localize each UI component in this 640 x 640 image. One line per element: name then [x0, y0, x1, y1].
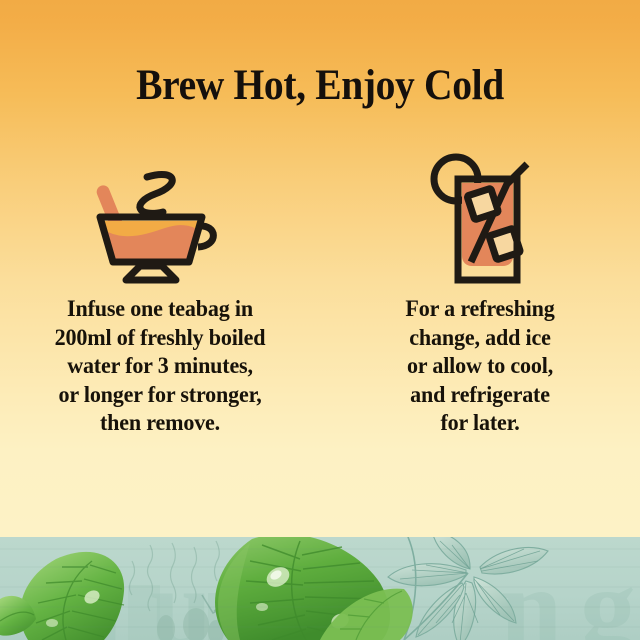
text-line: or longer for stronger,	[10, 381, 311, 410]
instruction-columns: Infuse one teabag in 200ml of freshly bo…	[0, 150, 640, 460]
instruction-text-enjoy-cold: For a refreshing change, add ice or allo…	[363, 295, 598, 438]
text-line: change, add ice	[363, 324, 598, 353]
teacup-icon	[85, 150, 235, 285]
text-line: water for 3 minutes,	[10, 352, 311, 381]
recipe-poster: Brew Hot, Enjoy Cold	[0, 0, 640, 640]
column-brew-hot: Infuse one teabag in 200ml of freshly bo…	[0, 150, 320, 460]
steam-squiggle-icon	[140, 174, 172, 213]
text-line: Infuse one teabag in	[10, 295, 311, 324]
column-enjoy-cold: For a refreshing change, add ice or allo…	[320, 150, 640, 460]
instruction-text-brew-hot: Infuse one teabag in 200ml of freshly bo…	[10, 295, 311, 438]
text-line: for later.	[363, 409, 598, 438]
teacup-icon-wrap	[85, 150, 235, 295]
text-line: or allow to cool,	[363, 352, 598, 381]
ice-cube-icon	[467, 188, 499, 220]
page-title: Brew Hot, Enjoy Cold	[26, 62, 615, 110]
text-line: 200ml of freshly boiled	[10, 324, 311, 353]
text-line: then remove.	[10, 409, 311, 438]
text-line: and refrigerate	[363, 381, 598, 410]
mint-leaf-photo-band: n u n g	[0, 537, 640, 640]
cup-base-icon	[126, 266, 176, 280]
iced-tea-glass-icon	[415, 150, 545, 285]
svg-text:g: g	[580, 546, 636, 640]
text-line: For a refreshing	[363, 295, 598, 324]
iced-tea-glass-icon-wrap	[415, 150, 545, 295]
